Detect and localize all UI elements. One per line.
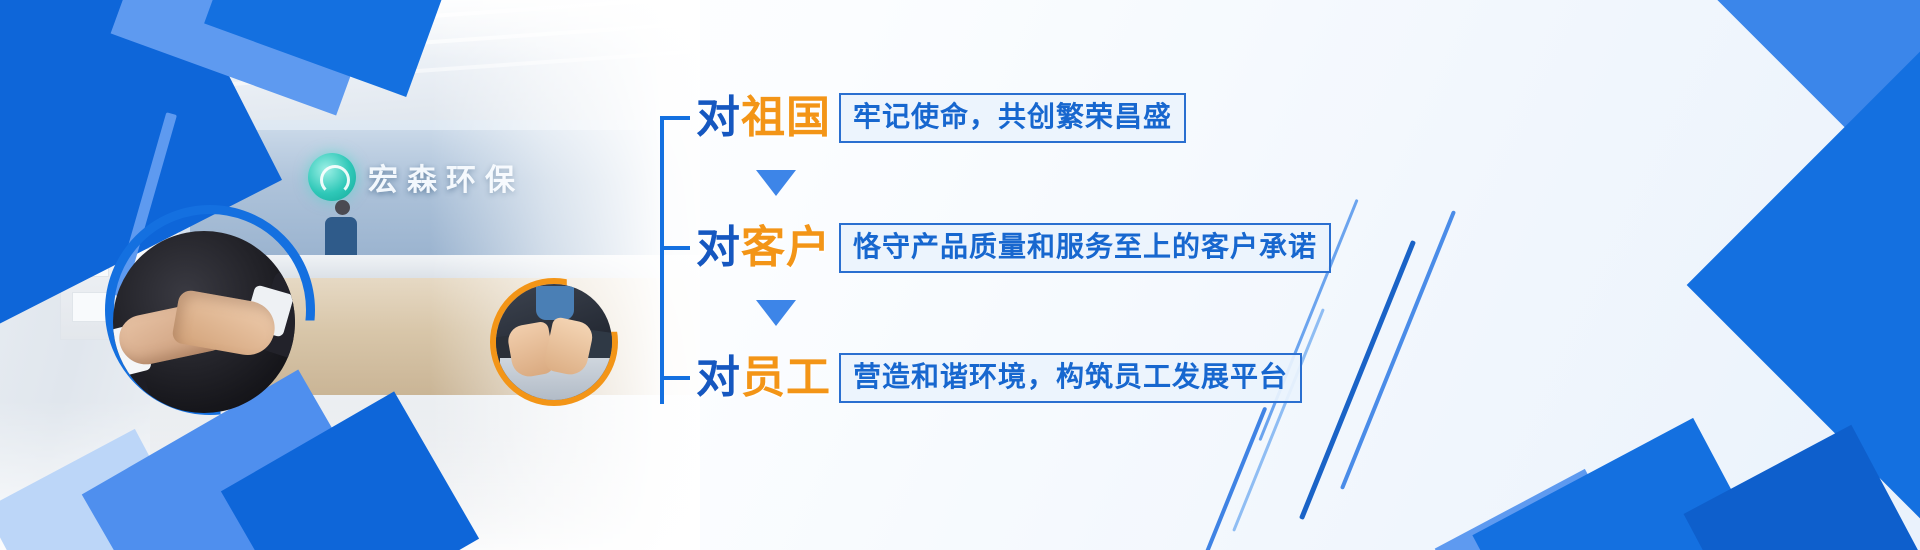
value-prefix-customer: 对 bbox=[696, 222, 741, 273]
receptionist-figure bbox=[325, 200, 359, 258]
receptionist-body bbox=[325, 217, 357, 259]
value-prefix-employee: 对 bbox=[696, 352, 741, 403]
value-heading-customer: 对客户 bbox=[696, 226, 831, 270]
value-heading-employee: 对员工 bbox=[696, 356, 831, 400]
chevron-down-icon-2 bbox=[756, 300, 796, 326]
value-keyword-customer: 客户 bbox=[741, 222, 831, 273]
row-connector-tick-1 bbox=[660, 116, 690, 120]
value-statement-employee: 营造和谐环境，构筑员工发展平台 bbox=[839, 353, 1302, 404]
value-row-country: 对祖国 牢记使命，共创繁荣昌盛 bbox=[660, 88, 1186, 148]
company-logo-mark-icon bbox=[308, 153, 356, 201]
row-connector-tick-3 bbox=[660, 376, 690, 380]
promo-banner: 宏森环保 HONGSEN ENVIRONMENTAL PROTECTION bbox=[0, 0, 1920, 550]
value-keyword-country: 祖国 bbox=[741, 92, 831, 143]
handshake-photo bbox=[113, 231, 295, 413]
value-statement-customer: 恪守产品质量和服务至上的客户承诺 bbox=[839, 223, 1331, 274]
value-row-employee: 对员工 营造和谐环境，构筑员工发展平台 bbox=[660, 348, 1302, 408]
row-connector-tick-2 bbox=[660, 246, 690, 250]
applause-collar bbox=[536, 286, 574, 320]
value-row-customer: 对客户 恪守产品质量和服务至上的客户承诺 bbox=[660, 218, 1331, 278]
chevron-down-icon-1 bbox=[756, 170, 796, 196]
receptionist-head bbox=[335, 200, 350, 215]
values-list: 对祖国 牢记使命，共创繁荣昌盛 对客户 恪守产品质量和服务至上的客户承诺 对员工… bbox=[660, 72, 1380, 472]
value-statement-country: 牢记使命，共创繁荣昌盛 bbox=[839, 93, 1186, 144]
value-prefix-country: 对 bbox=[696, 92, 741, 143]
value-heading-country: 对祖国 bbox=[696, 96, 831, 140]
decor-blue-diamond-right bbox=[1687, 52, 1920, 519]
applause-photo bbox=[496, 284, 612, 400]
value-keyword-employee: 员工 bbox=[741, 352, 831, 403]
